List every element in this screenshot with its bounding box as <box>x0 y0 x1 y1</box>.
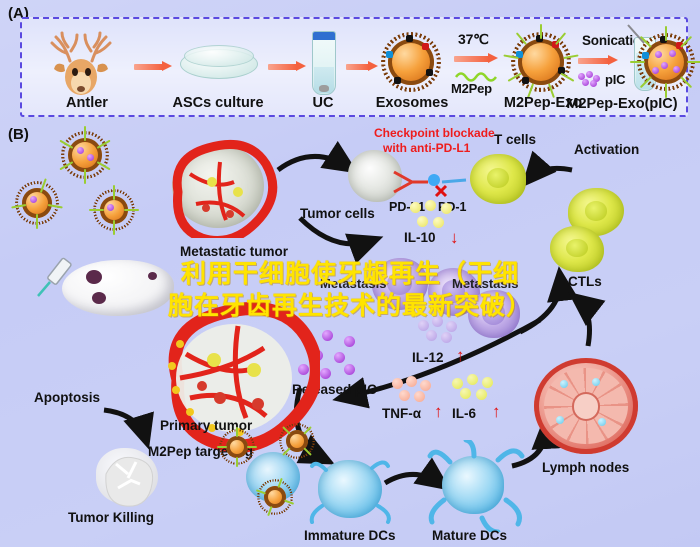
tnf-alpha-cytokine-cluster <box>392 376 438 404</box>
il-6-up-arrow: ↑ <box>492 402 501 422</box>
incubation-temperature-label: 37℃ <box>458 31 489 48</box>
checkpoint-blockade-label-line2: with anti-PD-L1 <box>383 141 470 155</box>
panel-b: Metastatic tumor Checkpoint blockad <box>0 118 700 547</box>
m2pep-exosome-particle-icon <box>518 39 564 85</box>
lymph-node-illustration <box>534 358 638 454</box>
metastatic-tumor-vasculature <box>160 134 278 238</box>
process-arrow-3 <box>346 61 378 72</box>
tnf-alpha-label: TNF-α <box>382 406 421 421</box>
mature-dcs-label: Mature DCs <box>432 528 507 543</box>
figure-canvas: (A) Antler ASCs cultu <box>0 0 700 547</box>
petri-dish-lid-icon <box>184 45 254 67</box>
m2pep-exosome-targeting-3 <box>264 486 286 508</box>
activation-label: Activation <box>574 142 639 157</box>
m2pep-label: M2Pep <box>451 81 492 96</box>
il-12-up-arrow: ↑ <box>456 346 465 366</box>
process-arrow-4 <box>454 53 498 64</box>
il-6-label: IL-6 <box>452 406 476 421</box>
ctl-cell-2 <box>550 226 604 272</box>
il-12-cytokine-cluster <box>418 316 464 344</box>
macrophage-cell-3 <box>468 290 520 338</box>
pic-molecule-cluster-icon <box>578 71 600 85</box>
process-arrow-1 <box>134 61 172 72</box>
tumor-cells-label: Tumor cells <box>300 206 375 221</box>
apoptotic-cell-fragments <box>92 444 164 508</box>
tumor-killing-label: Tumor Killing <box>68 510 154 525</box>
metastasis-label-1: Metastasis <box>320 276 386 291</box>
exosome-decoration-1 <box>68 138 102 172</box>
ctls-label: CTLs <box>568 274 602 289</box>
panel-a-stage-label-antler: Antler <box>42 95 132 111</box>
antler-deer-illustration <box>40 27 130 97</box>
metastatic-tumor-label: Metastatic tumor <box>180 244 288 259</box>
m2pep-exosome-targeting-2 <box>286 430 308 452</box>
il-10-label: IL-10 <box>404 230 436 245</box>
il-10-down-arrow: ↓ <box>450 228 459 248</box>
centrifuge-tube-icon <box>312 31 336 95</box>
apoptosis-label: Apoptosis <box>34 390 100 405</box>
panel-a-stage-label-ascs: ASCs culture <box>172 95 264 111</box>
panel-a-stage-label-exosomes: Exosomes <box>374 95 450 111</box>
lymph-nodes-label: Lymph nodes <box>542 460 629 475</box>
process-arrow-2 <box>268 61 306 72</box>
tnf-alpha-up-arrow: ↑ <box>434 402 443 422</box>
m2pep-exosome-targeting-1 <box>226 436 248 458</box>
process-arrow-5 <box>578 55 618 66</box>
panel-a-stage-label-m2pep-exo-pic: M2Pep-Exo(pIC) <box>552 96 692 112</box>
t-cells-label: T cells <box>494 132 536 147</box>
checkpoint-blockade-label-line1: Checkpoint blockade <box>374 126 495 140</box>
il-12-label: IL-12 <box>412 350 444 365</box>
metastasis-label-2: Metastasis <box>452 276 518 291</box>
panel-a-stage-label-uc: UC <box>297 95 349 111</box>
pic-label: pIC <box>605 72 625 87</box>
immature-dc-projections <box>306 448 398 532</box>
immature-dcs-label: Immature DCs <box>304 528 396 543</box>
mature-dc-projections <box>426 440 526 532</box>
syringe-injection-icon <box>34 256 86 304</box>
m2pep-exo-pic-particle-icon <box>644 40 688 84</box>
exosome-decoration-2 <box>22 188 52 218</box>
exosome-decoration-3 <box>100 196 128 224</box>
t-cell <box>470 154 526 204</box>
exosome-particle-icon <box>388 39 434 85</box>
il-6-cytokine-cluster <box>452 374 500 402</box>
